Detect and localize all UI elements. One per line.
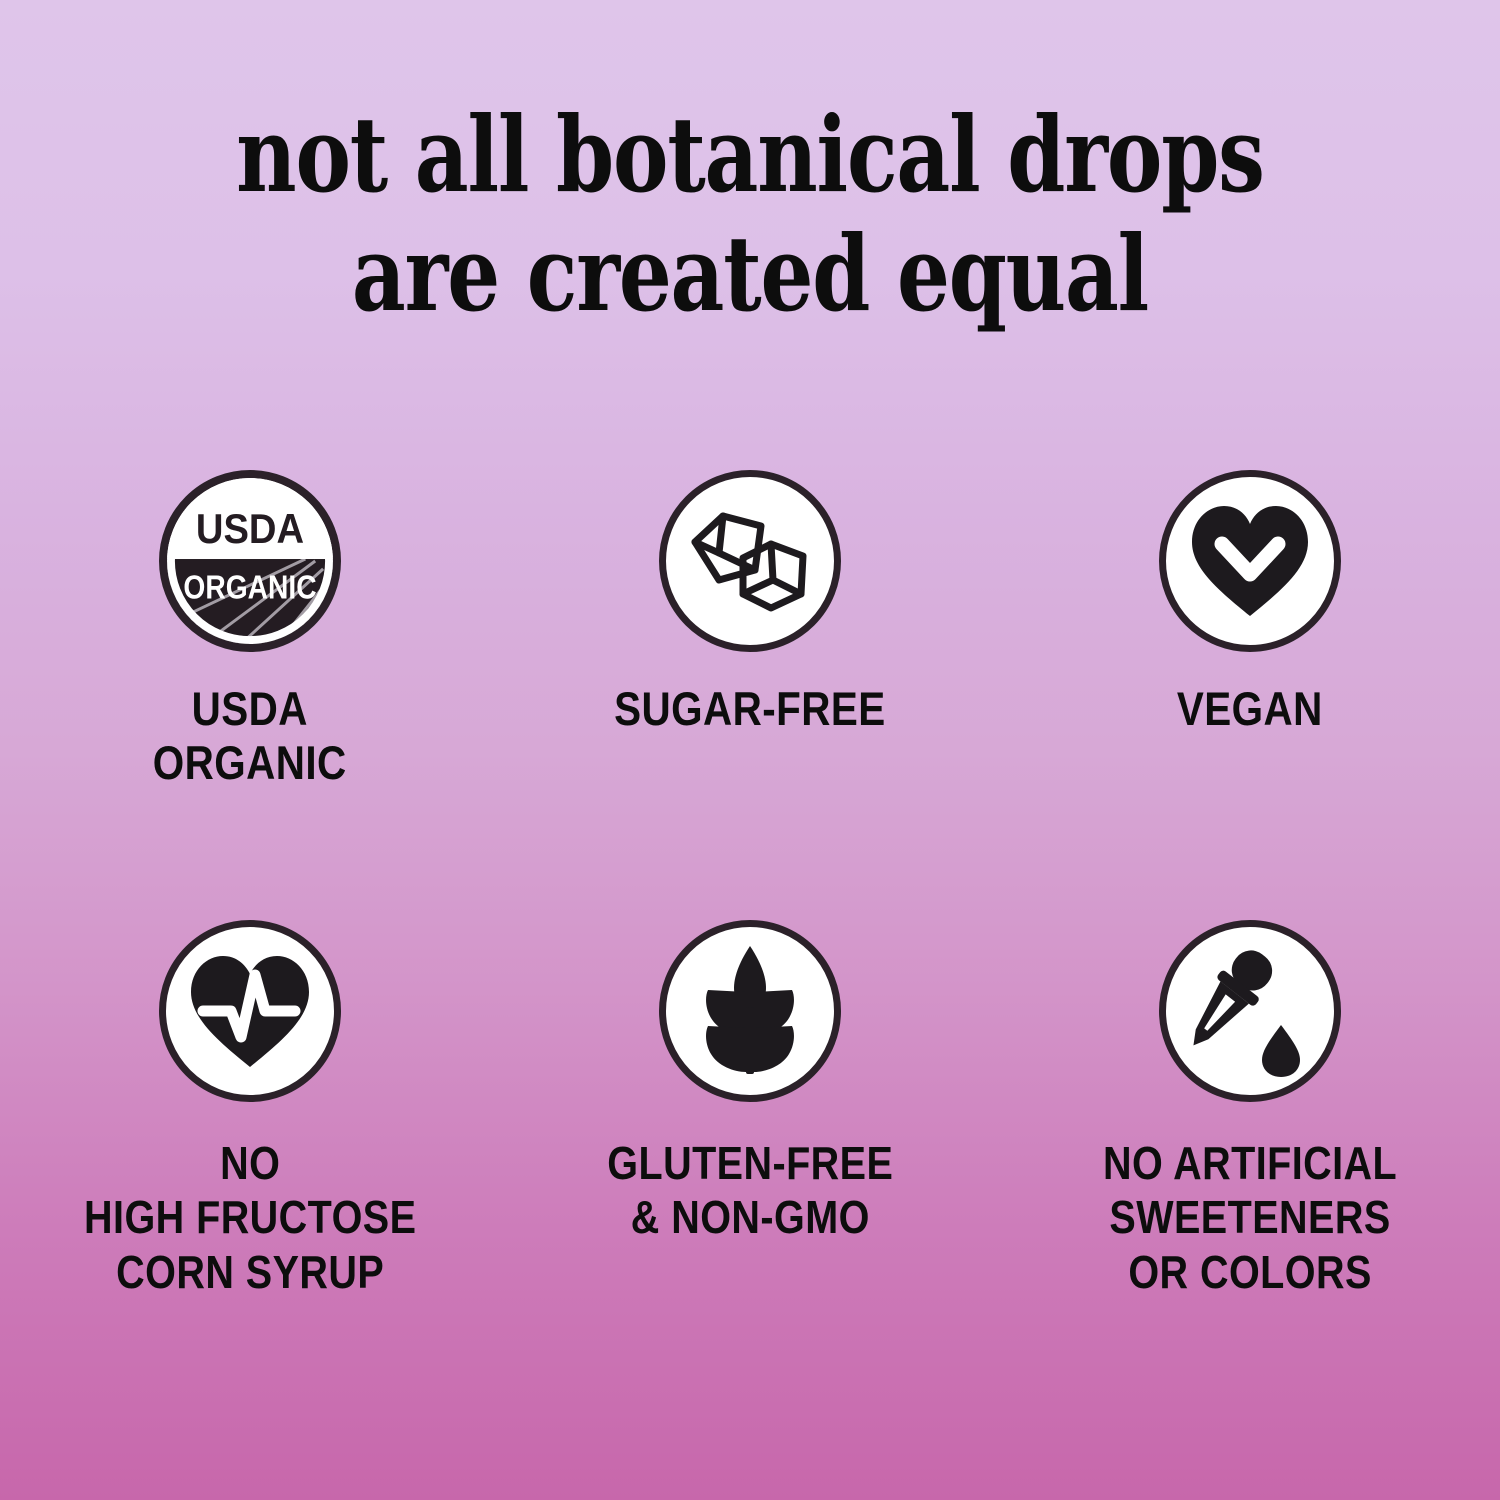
- seal-bottom-text: ORGANIC: [183, 568, 316, 606]
- page-title: not all botanical drops are created equa…: [150, 96, 1350, 333]
- heart-shape: [1192, 506, 1308, 616]
- badge-label-no-artificial: NO ARTIFICIAL SWEETENERS OR COLORS: [1103, 1136, 1397, 1299]
- badge-cell-vegan: VEGAN: [1000, 470, 1500, 789]
- usda-organic-badge: USDA ORGANIC: [159, 470, 341, 652]
- promo-poster: not all botanical drops are created equa…: [0, 0, 1500, 1500]
- headline-line-1: not all botanical drops: [150, 96, 1350, 215]
- wheat-stalk-icon: [694, 944, 806, 1078]
- badge-cell-no-artificial: NO ARTIFICIAL SWEETENERS OR COLORS: [1000, 920, 1500, 1299]
- badge-label-gluten-free: GLUTEN-FREE & NON-GMO: [607, 1136, 893, 1245]
- no-high-fructose-corn-syrup-badge: [159, 920, 341, 1102]
- badge-label-usda-organic: USDA ORGANIC: [153, 682, 347, 789]
- vegan-badge: [1159, 470, 1341, 652]
- usda-organic-seal-icon: USDA ORGANIC: [167, 477, 333, 645]
- badge-cell-sugar-free: SUGAR-FREE: [500, 470, 1000, 789]
- headline-line-2: are created equal: [150, 215, 1350, 334]
- seal-top-text: USDA: [196, 507, 304, 553]
- badge-row-2: NO HIGH FRUCTOSE CORN SYRUP: [0, 920, 1500, 1299]
- sugar-free-badge: [659, 470, 841, 652]
- dropper-drop-icon: [1189, 943, 1311, 1079]
- badge-label-sugar-free: SUGAR-FREE: [614, 682, 886, 736]
- gluten-free-non-gmo-badge: [659, 920, 841, 1102]
- liquid-drop: [1262, 1025, 1300, 1077]
- heart-check-icon: [1188, 502, 1312, 620]
- badge-label-no-hfcs: NO HIGH FRUCTOSE CORN SYRUP: [84, 1136, 416, 1299]
- heart-pulse-icon: [187, 951, 313, 1071]
- badge-cell-usda-organic: USDA ORGANIC USDA ORGANIC: [0, 470, 500, 789]
- badge-cell-gluten-free: GLUTEN-FREE & NON-GMO: [500, 920, 1000, 1299]
- wheat-leaf-lower-left: [706, 1026, 746, 1072]
- badge-grid: USDA ORGANIC USDA ORGANIC: [0, 470, 1500, 1299]
- badge-label-vegan: VEGAN: [1177, 682, 1323, 736]
- badge-row-1: USDA ORGANIC USDA ORGANIC: [0, 470, 1500, 789]
- sugar-cubes-icon: [685, 496, 815, 626]
- wheat-leaf-lower-right: [754, 1026, 794, 1072]
- badge-cell-no-hfcs: NO HIGH FRUCTOSE CORN SYRUP: [0, 920, 500, 1299]
- no-artificial-sweeteners-badge: [1159, 920, 1341, 1102]
